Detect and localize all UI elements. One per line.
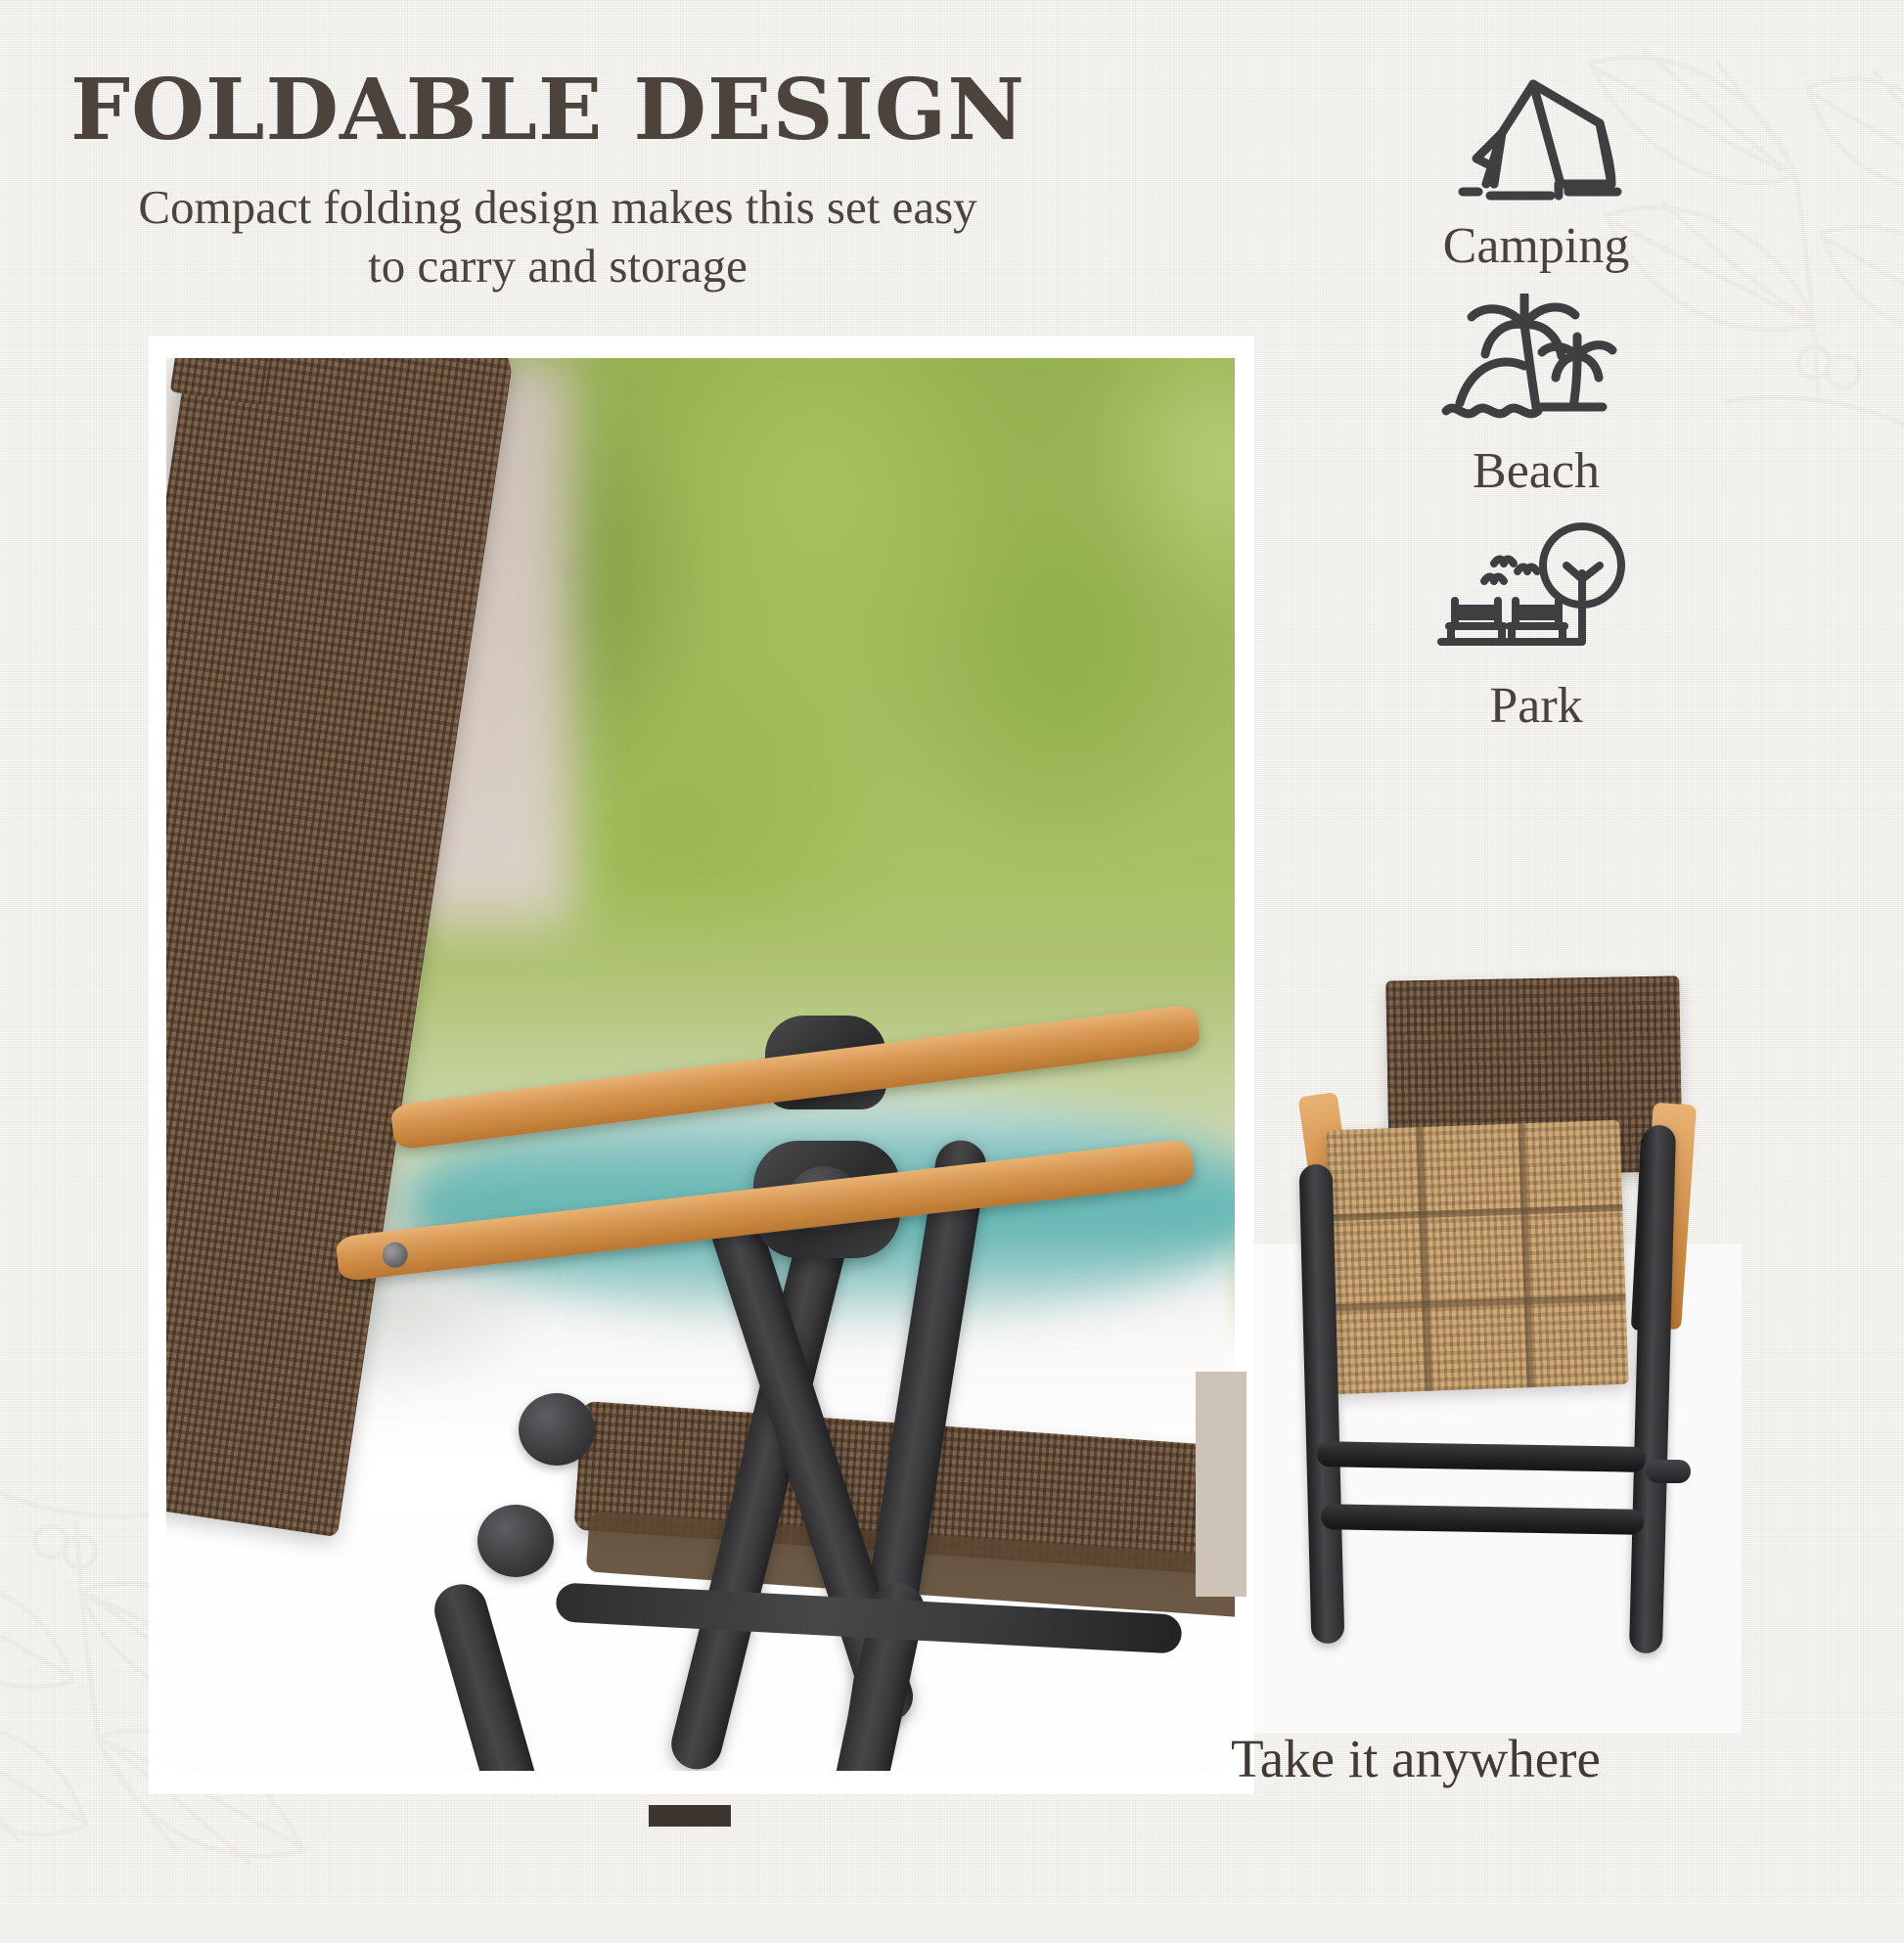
subtitle-line-2: to carry and storage [108, 237, 1008, 295]
palm-island-icon [1438, 294, 1634, 440]
main-photo-frame [149, 337, 1254, 1794]
hero-chair-illustration [166, 358, 1235, 1771]
weave-line-h2 [1333, 1294, 1626, 1311]
weave-line-v2 [1518, 1123, 1533, 1387]
armrest-screw [381, 1241, 409, 1269]
chair-recline-knob-upper [519, 1393, 595, 1466]
park-bench-tree-icon [1433, 519, 1639, 675]
page-subtitle: Compact folding design makes this set ea… [108, 178, 1008, 295]
chair-recline-knob-lower [477, 1505, 554, 1577]
use-case-park: Park [1433, 519, 1639, 732]
chair-backrest [166, 358, 515, 1537]
weave-line-v1 [1416, 1127, 1431, 1391]
weave-line-h1 [1329, 1204, 1622, 1221]
bottom-accent-bar [649, 1805, 731, 1827]
tent-icon [1443, 68, 1629, 215]
folded-chair-rail-lower [1321, 1504, 1644, 1535]
folded-chair-leg-right [1629, 1125, 1676, 1654]
folded-chair-illustration [1272, 978, 1781, 1761]
folded-chair-seat-panel [1326, 1120, 1628, 1394]
main-photo [166, 358, 1235, 1771]
page-title: FOLDABLE DESIGN [0, 61, 1096, 159]
folded-chair-rail-upper [1317, 1441, 1646, 1472]
inset-tab-strip [1196, 1372, 1247, 1597]
use-case-label-beach: Beach [1473, 446, 1600, 497]
chair-lower-leg-left [429, 1578, 544, 1771]
inset-caption: Take it anywhere [1231, 1732, 1857, 1785]
use-case-label-camping: Camping [1443, 221, 1630, 272]
folded-chair-pin [1646, 1460, 1691, 1483]
use-case-label-park: Park [1489, 681, 1582, 732]
subtitle-line-1: Compact folding design makes this set ea… [108, 178, 1008, 237]
use-case-beach: Beach [1438, 294, 1634, 497]
use-case-camping: Camping [1443, 68, 1630, 272]
use-case-icon-column: Camping [1370, 68, 1702, 732]
